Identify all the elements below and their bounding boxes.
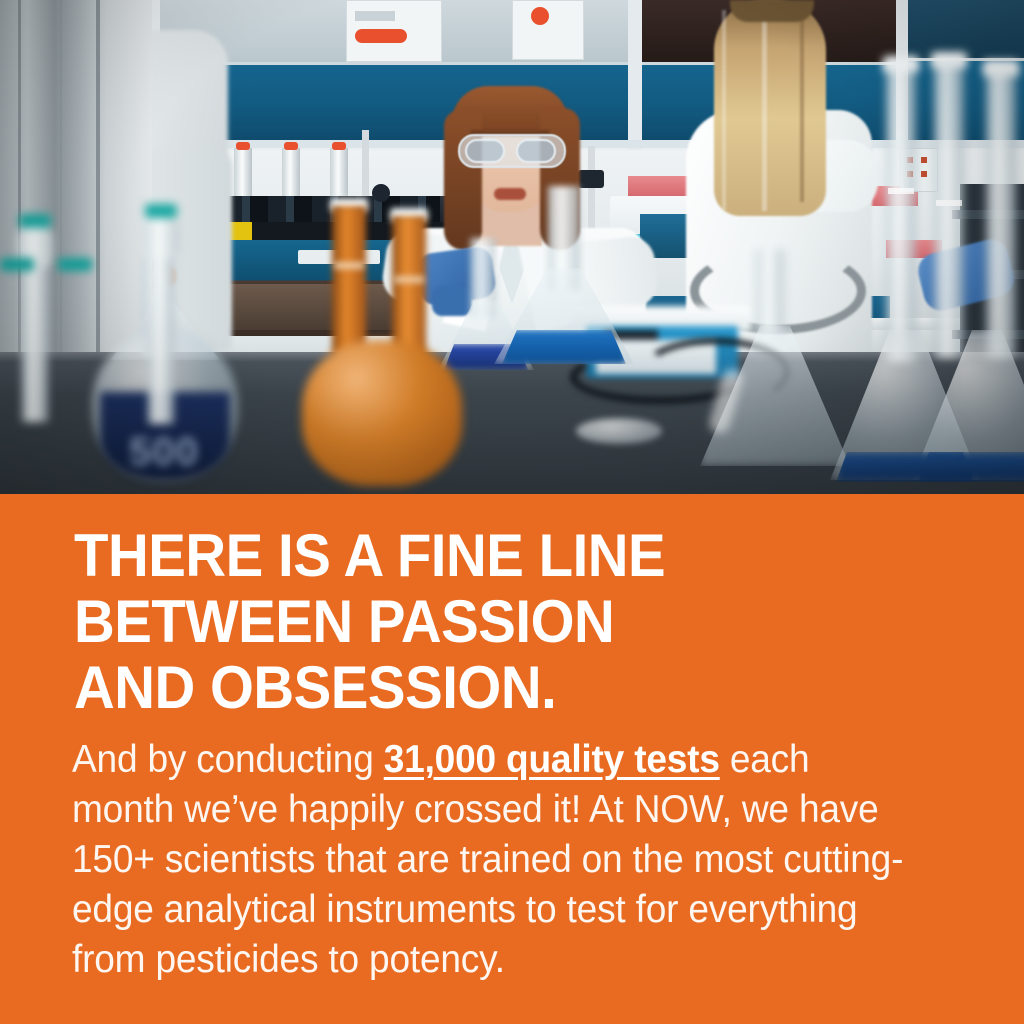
page-title: THERE IS A FINE LINE BETWEEN PASSION AND… (74, 523, 920, 721)
body-lead: And by conducting (72, 738, 384, 781)
body-paragraph: And by conducting 31,000 quality tests e… (72, 735, 908, 985)
social-post-card: 500 THERE IS A FINE LINE BETWEEN PASSION… (0, 0, 1024, 1024)
quality-tests-highlight: 31,000 quality tests (384, 738, 720, 781)
photo-vignette (0, 0, 1024, 494)
lab-photo: 500 (0, 0, 1024, 494)
